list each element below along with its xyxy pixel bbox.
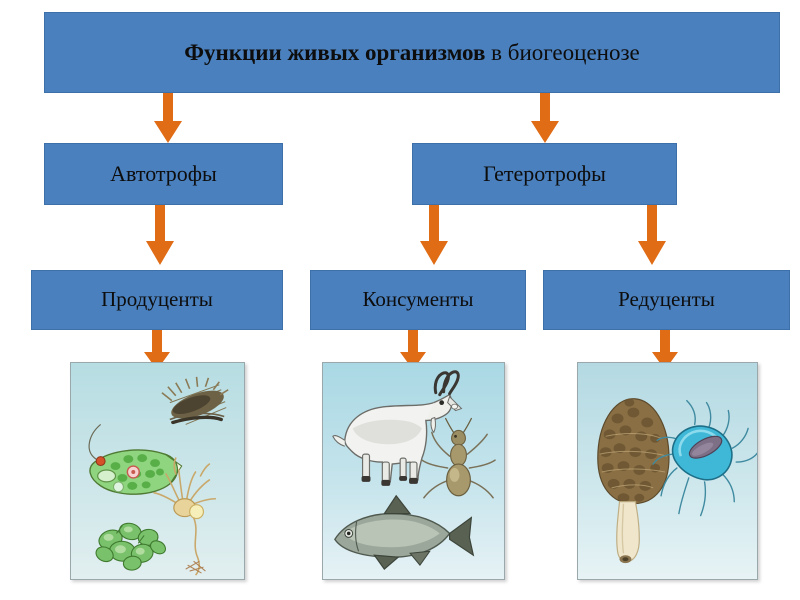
fish-icon	[335, 496, 473, 569]
page-title: Функции живых организмов в биогеоценозе	[184, 40, 640, 65]
node-producers-label: Продуценты	[101, 288, 213, 311]
title-regular-part: в биогеоценозе	[485, 40, 639, 65]
arrow-autotrophs-to-producers	[144, 205, 176, 267]
node-autotrophs-label: Автотрофы	[110, 162, 217, 186]
illustration-producers	[70, 362, 245, 580]
node-producers: Продуценты	[31, 270, 283, 330]
arrow-heterotrophs-to-reducers	[636, 205, 668, 267]
node-autotrophs: Автотрофы	[44, 143, 283, 205]
illustration-consumers	[322, 362, 505, 580]
euglena-icon	[89, 424, 182, 494]
diagram-canvas: Функции живых организмов в биогеоценозе …	[0, 0, 800, 600]
goat-icon	[333, 372, 462, 486]
node-consumers-label: Консументы	[362, 288, 473, 311]
wheat-spike-icon	[162, 377, 228, 425]
node-reducers-label: Редуценты	[618, 288, 715, 311]
morel-mushroom-icon	[598, 399, 669, 563]
node-heterotrophs: Гетеротрофы	[412, 143, 677, 205]
arrow-title-to-autotrophs	[152, 93, 184, 145]
node-title: Функции живых организмов в биогеоценозе	[44, 12, 780, 93]
arrow-heterotrophs-to-consumers	[418, 205, 450, 267]
illustration-reducers	[577, 362, 758, 580]
node-reducers: Редуценты	[543, 270, 790, 330]
arrow-title-to-heterotrophs	[529, 93, 561, 145]
node-consumers: Консументы	[310, 270, 526, 330]
title-bold-part: Функции живых организмов	[184, 40, 485, 65]
green-algae-icon	[94, 521, 168, 571]
node-heterotrophs-label: Гетеротрофы	[483, 162, 606, 186]
